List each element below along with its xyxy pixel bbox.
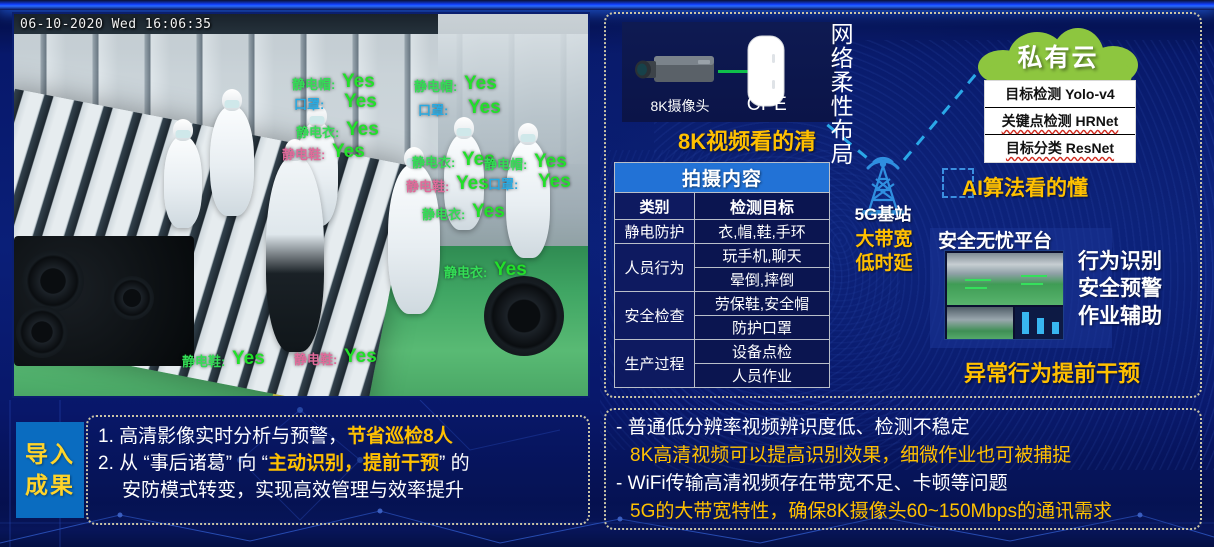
detection-label: 静电鞋: [282,144,325,163]
platform-feature-3: 作业辅助 [1078,303,1162,330]
result-item-2-prefix: 2. 从 “事后诸葛” 向 “ [98,453,268,474]
table-row: 静电防护衣,帽,鞋,手环 [615,220,830,244]
result-item-2-suffix: ” 的 [439,453,470,474]
video-timestamp: 06-10-2020 Wed 16:06:35 [20,17,212,32]
bandwidth-latency-label: 大带宽 低时延 [828,228,940,276]
detection-verdict: Yes [534,151,567,173]
detection-label: 静电衣: [422,204,465,223]
badge-line-1: 导入 [25,439,75,470]
cloud-label: 私有云 [978,38,1138,74]
detection-label: 静电衣: [296,122,339,141]
worker [266,156,324,352]
cell-target: 晕倒,摔倒 [695,268,830,292]
comparison-notes-text: - 普通低分辨率视频辨识度低、检测不稳定 8K高清视频可以提高识别效果，细微作业… [616,414,1196,526]
cell-category: 生产过程 [615,340,695,388]
cell-target: 防护口罩 [695,316,830,340]
ai-model-list: 目标检测 Yolo-v4关键点检测 HRNet目标分类 ResNet [984,80,1136,163]
ai-model-row: 关键点检测 HRNet [985,108,1135,135]
platform-feature-1: 行为识别 [1078,248,1162,275]
results-text: 1. 高清影像实时分析与预警，节省巡检8人 2. 从 “事后诸葛” 向 “主动识… [98,424,584,505]
table-title: 拍摄内容 [615,163,830,193]
network-flexible-layout-note: 网络柔性布局 [828,22,852,166]
tower-label: 5G基站 [828,200,938,225]
slide-canvas: 06-10-2020 Wed 16:06:35 静电帽:Yes口罩:Yes静电衣… [0,0,1214,547]
detection-label: 口罩: [418,100,448,119]
cable-reel [110,276,154,320]
table-head: 拍摄内容 类别 检测目标 [615,163,830,220]
camera-cpe-box: 8K摄像头 CPE [622,22,836,122]
result-item-1-highlight: 节省巡检8人 [347,426,453,447]
result-item-2: 2. 从 “事后诸葛” 向 “主动识别，提前干预” 的 [98,451,584,478]
caption-ai-understands: AI算法看的懂 [962,172,1088,202]
platform-dashboard-screenshot[interactable] [944,250,1064,340]
factory-scene-image: 06-10-2020 Wed 16:06:35 静电帽:Yes口罩:Yes静电衣… [14,14,588,396]
dashboard-sub-video [947,307,1013,339]
ai-model-row: 目标检测 Yolo-v4 [985,81,1135,108]
platform-feature-2: 安全预警 [1078,275,1162,302]
detection-label: 静电鞋: [406,176,449,195]
result-item-1-prefix: 1. 高清影像实时分析与预警， [98,426,347,447]
table-title-row: 拍摄内容 [615,163,830,193]
detection-verdict: Yes [494,259,527,281]
badge-line-2: 成果 [25,470,75,501]
bandwidth-line-1: 大带宽 [855,229,912,250]
result-item-2-continued: 安防模式转变，实现高效管理与效率提升 [98,478,584,505]
results-badge: 导入 成果 [16,422,84,518]
cell-target: 劳保鞋,安全帽 [695,292,830,316]
shooting-content-table: 拍摄内容 类别 检测目标 静电防护衣,帽,鞋,手环人员行为玩手机,聊天晕倒,摔倒… [614,162,830,388]
detection-verdict: Yes [468,97,501,119]
camera-label: 8K摄像头 [630,96,730,116]
note-line-3: - WiFi传输高清视频存在带宽不足、卡顿等问题 [616,470,1196,498]
table-body: 静电防护衣,帽,鞋,手环人员行为玩手机,聊天晕倒,摔倒安全检查劳保鞋,安全帽防护… [615,220,830,388]
cable-reel [484,276,564,356]
cell-category: 人员行为 [615,244,695,292]
detection-label: 口罩: [488,174,518,193]
result-item-2-highlight: 主动识别，提前干预 [268,453,439,474]
detection-verdict: Yes [538,171,571,193]
detection-verdict: Yes [344,91,377,113]
dashboard-bar-chart [1015,307,1063,339]
cell-target: 衣,帽,鞋,手环 [695,220,830,244]
cable-reel [16,306,68,358]
top-glow-bar [0,0,1214,10]
cell-target: 设备点检 [695,340,830,364]
cell-category: 安全检查 [615,292,695,340]
camera-icon [632,50,720,90]
worker [210,106,254,216]
note-line-4: 5G的大带宽特性，确保8K摄像头60~150Mbps的通讯需求 [616,498,1196,526]
detection-label: 静电帽: [484,154,527,173]
detection-verdict: Yes [232,348,265,370]
column-header-category: 类别 [615,193,695,220]
detection-verdict: Yes [344,346,377,368]
worker [164,136,202,228]
result-item-1: 1. 高清影像实时分析与预警，节省巡检8人 [98,424,584,451]
cell-category: 静电防护 [615,220,695,244]
detection-verdict: Yes [332,141,365,163]
detection-verdict: Yes [464,73,497,95]
caption-8k-clear: 8K视频看的清 [678,124,816,156]
cell-target: 人员作业 [695,364,830,388]
table-header-row: 类别 检测目标 [615,193,830,220]
detection-verdict: Yes [472,201,505,223]
detection-label: 静电衣: [444,262,487,281]
platform-feature-list: 行为识别 安全预警 作业辅助 [1078,248,1162,330]
note-line-2: 8K高清视频可以提高识别效果，细微作业也可被捕捉 [616,442,1196,470]
table-row: 人员行为玩手机,聊天 [615,244,830,268]
live-video-feed[interactable]: 06-10-2020 Wed 16:06:35 静电帽:Yes口罩:Yes静电衣… [12,12,590,398]
cpe-label: CPE [734,94,800,116]
detection-label: 静电鞋: [294,349,337,368]
note-line-1: - 普通低分辨率视频辨识度低、检测不稳定 [616,414,1196,442]
table-row: 生产过程设备点检 [615,340,830,364]
table-row: 安全检查劳保鞋,安全帽 [615,292,830,316]
bandwidth-line-2: 低时延 [855,253,912,274]
detection-verdict: Yes [342,71,375,93]
platform-title: 安全无忧平台 [938,226,1052,253]
detection-label: 静电衣: [412,152,455,171]
caption-abnormal-intervention: 异常行为提前干预 [964,356,1140,388]
dashboard-main-video [947,253,1063,305]
detection-label: 口罩: [294,94,324,113]
cable-reel [22,250,84,312]
detection-label: 静电鞋: [182,351,225,370]
cell-target: 玩手机,聊天 [695,244,830,268]
detection-label: 静电帽: [414,76,457,95]
detection-verdict: Yes [456,173,489,195]
detection-label: 静电帽: [292,74,335,93]
ai-model-row: 目标分类 ResNet [985,135,1135,162]
detection-verdict: Yes [346,119,379,141]
column-header-target: 检测目标 [695,193,830,220]
